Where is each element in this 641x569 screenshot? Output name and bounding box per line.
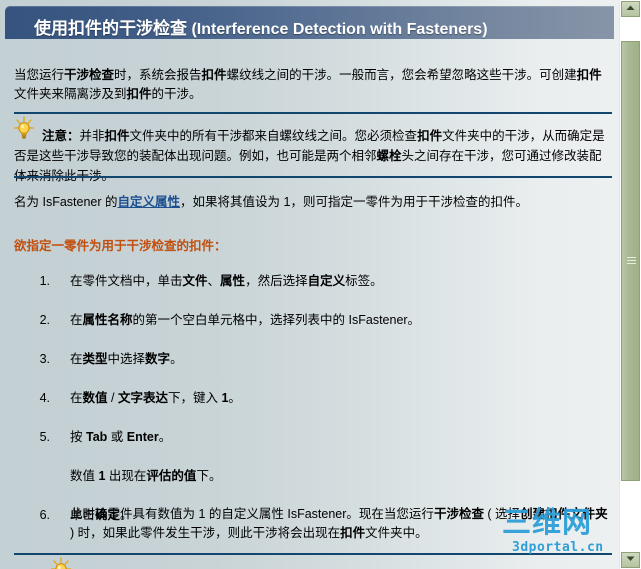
- step-text: 在类型中选择数字。: [70, 350, 610, 369]
- vertical-scrollbar[interactable]: [619, 0, 641, 569]
- list-item: 4. 在数值 / 文字表达下，键入 1。: [30, 389, 610, 408]
- note-divider-top: [14, 112, 612, 114]
- list-item: 3. 在类型中选择数字。: [30, 350, 610, 369]
- chevron-up-icon: [626, 5, 635, 11]
- isfastener-paragraph: 名为 IsFastener 的自定义属性，如果将其值设为 1，则可指定一零件为用…: [14, 193, 610, 212]
- note-text: 并非扣件文件夹中的所有干涉都来自螺纹线之间。您必须检查扣件文件夹中的干涉，从而确…: [14, 129, 605, 183]
- page-title-chinese: 使用扣件的干涉检查: [34, 19, 187, 38]
- step-text: 在数值 / 文字表达下，键入 1。: [70, 389, 610, 408]
- step-number: 1.: [30, 272, 50, 291]
- step-text: 按 Tab 或 Enter。: [70, 428, 610, 447]
- page-title-banner: 使用扣件的干涉检查 (Interference Detection with F…: [5, 6, 614, 39]
- scrollbar-track[interactable]: [620, 17, 641, 552]
- isfastener-prefix: 名为 IsFastener 的: [14, 195, 118, 209]
- page-title: 使用扣件的干涉检查 (Interference Detection with F…: [34, 14, 488, 39]
- scroll-up-button[interactable]: [621, 1, 640, 17]
- bottom-note-divider: [14, 553, 612, 555]
- result-paragraph: 此时该零件具有数值为 1 的自定义属性 IsFastener。现在当您运行干涉检…: [70, 505, 610, 543]
- step-number: 3.: [30, 350, 50, 369]
- isfastener-suffix: ，如果将其值设为 1，则可指定一零件为用于干涉检查的扣件。: [180, 195, 528, 209]
- custom-property-link[interactable]: 自定义属性: [118, 195, 181, 209]
- note-divider-bottom: [14, 176, 612, 178]
- document-canvas: 使用扣件的干涉检查 (Interference Detection with F…: [0, 0, 620, 569]
- note-label: 注意：: [42, 129, 80, 143]
- scrollbar-thumb[interactable]: [621, 41, 640, 481]
- list-item: 2. 在属性名称的第一个空白单元格中，选择列表中的 IsFastener。: [30, 311, 610, 330]
- step-number: 5.: [30, 428, 50, 447]
- lightbulb-icon: [50, 557, 72, 569]
- scroll-down-button[interactable]: [621, 552, 640, 568]
- step-number: 4.: [30, 389, 50, 408]
- step-number: 2.: [30, 311, 50, 330]
- help-document-page: 使用扣件的干涉检查 (Interference Detection with F…: [0, 0, 641, 569]
- step-number: 6.: [30, 506, 50, 525]
- page-title-english: (Interference Detection with Fasteners): [191, 21, 487, 38]
- step-subtext: 数值 1 出现在评估的值下。: [70, 467, 610, 486]
- intro-paragraph: 当您运行干涉检查时，系统会报告扣件螺纹线之间的干涉。一般而言，您会希望忽略这些干…: [14, 66, 606, 104]
- step-text: 在属性名称的第一个空白单元格中，选择列表中的 IsFastener。: [70, 311, 610, 330]
- chevron-down-icon: [626, 556, 635, 562]
- step-text: 在零件文档中，单击文件、属性，然后选择自定义标签。: [70, 272, 610, 291]
- steps-heading: 欲指定一零件为用于干涉检查的扣件：: [14, 235, 227, 254]
- list-item: 5. 按 Tab 或 Enter。 数值 1 出现在评估的值下。: [30, 428, 610, 486]
- scrollbar-grip: [627, 257, 636, 265]
- list-item: 1. 在零件文档中，单击文件、属性，然后选择自定义标签。: [30, 272, 610, 291]
